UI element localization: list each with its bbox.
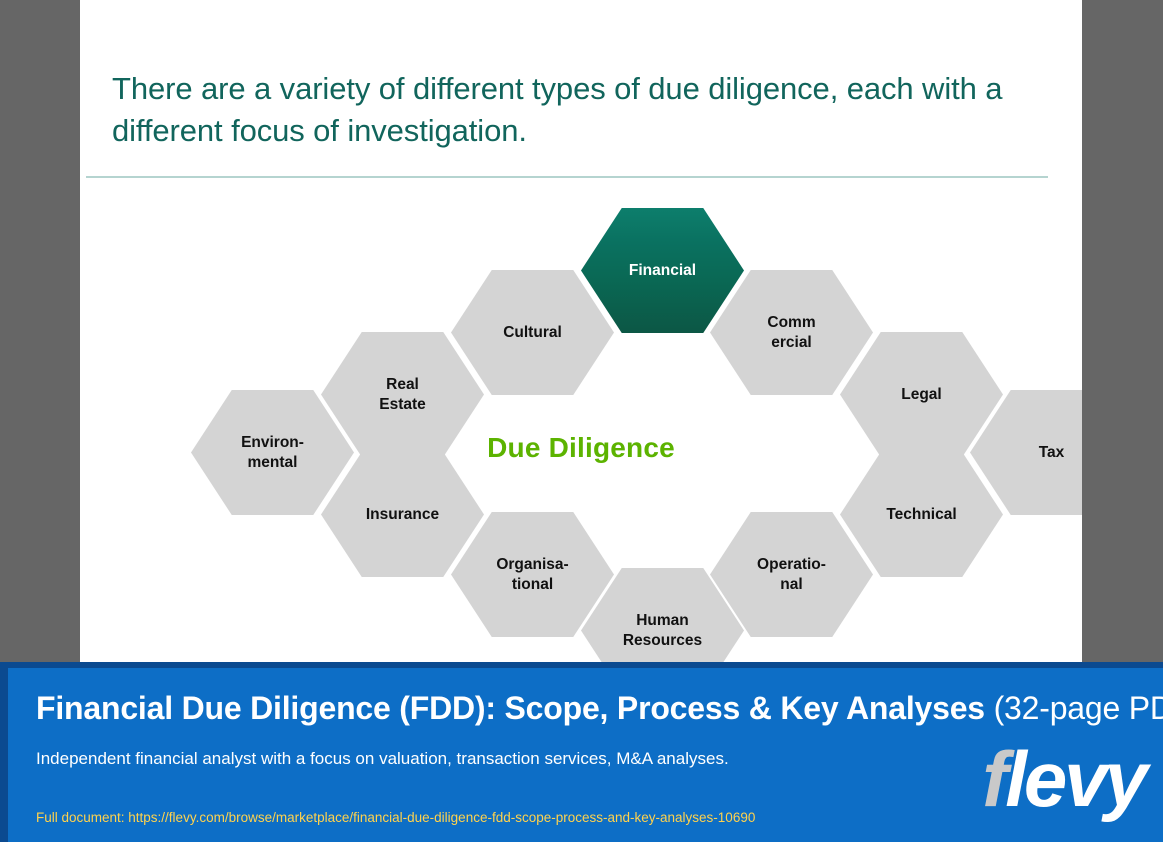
hexagon-cultural[interactable]: Cultural [451,270,614,395]
hexagon-commercial[interactable]: Comm ercial [710,270,873,395]
hexagon-insurance[interactable]: Insurance [321,452,484,577]
hexagon-label-real-estate: Real Estate [365,375,440,415]
flevy-logo-f: f [982,735,1005,823]
document-description: Independent financial analyst with a foc… [36,746,916,771]
presentation-slide: There are a variety of different types o… [80,0,1082,662]
hexagon-label-financial: Financial [615,261,710,281]
hexagon-label-organisational: Organisa- tional [482,555,582,595]
document-title: Financial Due Diligence (FDD): Scope, Pr… [36,690,1163,727]
hexagon-label-operational: Operatio- nal [743,555,840,595]
hexagon-label-legal: Legal [887,385,955,405]
document-title-main: Financial Due Diligence (FDD): Scope, Pr… [36,690,994,726]
document-page-count: (32-page PDF Document) [994,690,1163,726]
hexagon-diagram: FinancialComm ercialLegalTaxTechnicalOpe… [80,180,1082,662]
flevy-promo-banner: Financial Due Diligence (FDD): Scope, Pr… [0,662,1163,842]
hexagon-label-technical: Technical [872,505,970,525]
hexagon-technical[interactable]: Technical [840,452,1003,577]
diagram-center-label: Due Diligence [80,432,1082,464]
hexagon-label-human-resources: Human Resources [609,611,716,651]
flevy-logo[interactable]: flevy [982,740,1145,818]
document-url-link[interactable]: Full document: https://flevy.com/browse/… [36,810,1036,825]
hexagon-label-commercial: Comm ercial [753,313,829,353]
flevy-logo-levy: levy [1005,735,1145,823]
hexagon-label-insurance: Insurance [352,505,453,525]
page-title: There are a variety of different types o… [112,68,1042,152]
hexagon-label-cultural: Cultural [489,323,576,343]
title-divider [86,176,1048,178]
hexagon-financial[interactable]: Financial [581,208,744,333]
